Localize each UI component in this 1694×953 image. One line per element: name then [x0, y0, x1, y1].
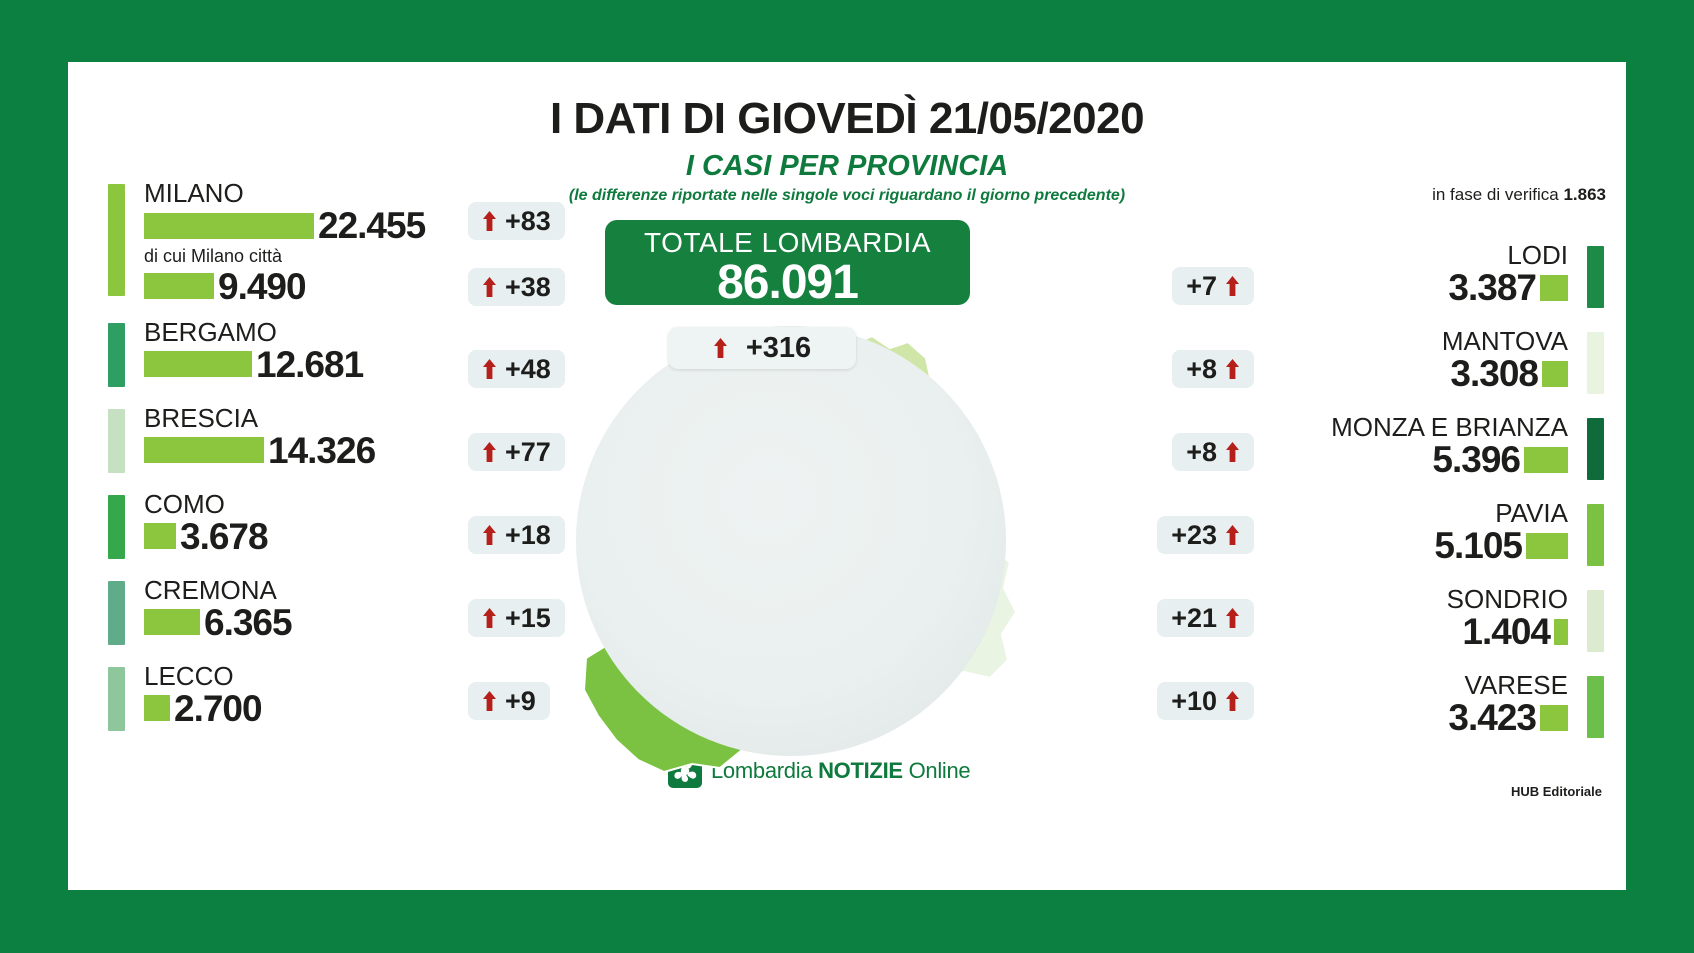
province-value: 9.490 [218, 268, 306, 305]
province-bar [144, 273, 214, 299]
province-color-swatch [108, 581, 125, 645]
province-value: 1.404 [1462, 613, 1550, 650]
province-name: COMO [144, 491, 498, 518]
province-bar [144, 695, 170, 721]
arrow-up-icon [482, 691, 497, 711]
province-bar-line: 5.396 [1204, 441, 1568, 478]
province-row: MILANO22.455 [108, 180, 498, 244]
province-name: LODI [1204, 242, 1568, 269]
province-bar [144, 609, 200, 635]
province-bar-line: 3.678 [144, 518, 498, 555]
province-bar-line: 1.404 [1204, 613, 1568, 650]
province-name: BRESCIA [144, 405, 498, 432]
delta-pill: +83 [468, 202, 565, 240]
arrow-up-icon [482, 608, 497, 628]
arrow-up-icon [482, 211, 497, 231]
province-row: COMO3.678 [108, 491, 498, 555]
province-row: di cui Milano città9.490 [108, 246, 498, 305]
province-bar-line: 14.326 [144, 432, 498, 469]
page-title: I DATI DI GIOVEDÌ 21/05/2020 [68, 94, 1626, 144]
province-name: LECCO [144, 663, 498, 690]
province-bar-line: 9.490 [144, 268, 498, 305]
province-name: VARESE [1204, 672, 1568, 699]
province-value: 3.308 [1450, 355, 1538, 392]
province-name: di cui Milano città [144, 246, 498, 268]
total-delta-value: +316 [746, 332, 811, 365]
province-bar-line: 2.700 [144, 690, 498, 727]
province-value: 3.423 [1448, 699, 1536, 736]
province-bar-line: 3.308 [1204, 355, 1568, 392]
province-name: SONDRIO [1204, 586, 1568, 613]
map-backdrop [576, 326, 1006, 756]
province-color-swatch [1587, 676, 1604, 738]
province-row: PAVIA5.105 [1204, 500, 1604, 564]
province-value: 5.396 [1432, 441, 1520, 478]
arrow-up-icon [482, 442, 497, 462]
province-bar-line: 3.423 [1204, 699, 1568, 736]
province-name: PAVIA [1204, 500, 1568, 527]
arrow-up-icon [482, 277, 497, 297]
delta-pill: +38 [468, 268, 565, 306]
province-value: 2.700 [174, 690, 262, 727]
total-delta-pill: +316 [668, 327, 856, 369]
province-name: BERGAMO [144, 319, 498, 346]
province-bar [1526, 533, 1568, 559]
province-bar [1540, 705, 1568, 731]
province-bar-line: 6.365 [144, 604, 498, 641]
province-value: 3.387 [1448, 269, 1536, 306]
arrow-up-icon [482, 359, 497, 379]
province-row: LECCO2.700 [108, 663, 498, 727]
province-name: MILANO [144, 180, 498, 207]
credit-label: HUB Editoriale [1511, 784, 1602, 799]
province-name: MANTOVA [1204, 328, 1568, 355]
province-bar [144, 213, 314, 239]
province-color-swatch [1587, 246, 1604, 308]
province-row: LODI3.387 [1204, 242, 1604, 306]
province-name: CREMONA [144, 577, 498, 604]
province-row: MONZA E BRIANZA5.396 [1204, 414, 1604, 478]
province-color-swatch [108, 409, 125, 473]
arrow-up-icon [713, 338, 728, 358]
verifica-value: 1.863 [1563, 185, 1606, 204]
province-color-swatch [1587, 590, 1604, 652]
province-color-swatch [1587, 504, 1604, 566]
province-color-swatch [108, 323, 125, 387]
province-row: BERGAMO12.681 [108, 319, 498, 383]
province-value: 12.681 [256, 346, 363, 383]
province-value: 5.105 [1434, 527, 1522, 564]
arrow-up-icon [482, 525, 497, 545]
province-color-swatch [108, 667, 125, 731]
delta-pill-wrap: +83 [468, 202, 628, 240]
province-color-swatch [108, 495, 125, 559]
province-value: 22.455 [318, 207, 425, 244]
province-name: MONZA E BRIANZA [1204, 414, 1568, 441]
total-lombardia-box: TOTALE LOMBARDIA 86.091 [605, 220, 970, 305]
province-value: 3.678 [180, 518, 268, 555]
verifica-block: in fase di verifica 1.863 [1432, 185, 1606, 205]
right-province-column: LODI3.387MANTOVA3.308MONZA E BRIANZA5.39… [1204, 242, 1604, 758]
province-bar-line: 5.105 [1204, 527, 1568, 564]
lombardia-map [528, 302, 1058, 802]
province-color-swatch [1587, 418, 1604, 480]
province-bar-line: 12.681 [144, 346, 498, 383]
infographic-card: I DATI DI GIOVEDÌ 21/05/2020 I CASI PER … [68, 62, 1626, 890]
province-row: VARESE3.423 [1204, 672, 1604, 736]
verifica-label: in fase di verifica [1432, 185, 1559, 204]
province-row: MANTOVA3.308 [1204, 328, 1604, 392]
province-row: CREMONA6.365 [108, 577, 498, 641]
province-bar-line: 22.455 [144, 207, 498, 244]
province-bar [1554, 619, 1568, 645]
province-bar [1542, 361, 1568, 387]
province-value: 6.365 [204, 604, 292, 641]
province-bar [144, 437, 264, 463]
province-bar [1540, 275, 1568, 301]
delta-pill-wrap: +38 [468, 268, 628, 306]
province-row: SONDRIO1.404 [1204, 586, 1604, 650]
province-row: BRESCIA14.326 [108, 405, 498, 469]
total-value: 86.091 [605, 255, 970, 310]
delta-value: +38 [505, 272, 551, 303]
delta-value: +83 [505, 206, 551, 237]
province-bar [1524, 447, 1568, 473]
province-value: 14.326 [268, 432, 375, 469]
province-bar-line: 3.387 [1204, 269, 1568, 306]
province-bar [144, 351, 252, 377]
province-bar [144, 523, 176, 549]
page-subtitle: I CASI PER PROVINCIA [68, 150, 1626, 183]
left-province-column: MILANO22.455di cui Milano città9.490BERG… [108, 180, 498, 749]
province-color-swatch [1587, 332, 1604, 394]
